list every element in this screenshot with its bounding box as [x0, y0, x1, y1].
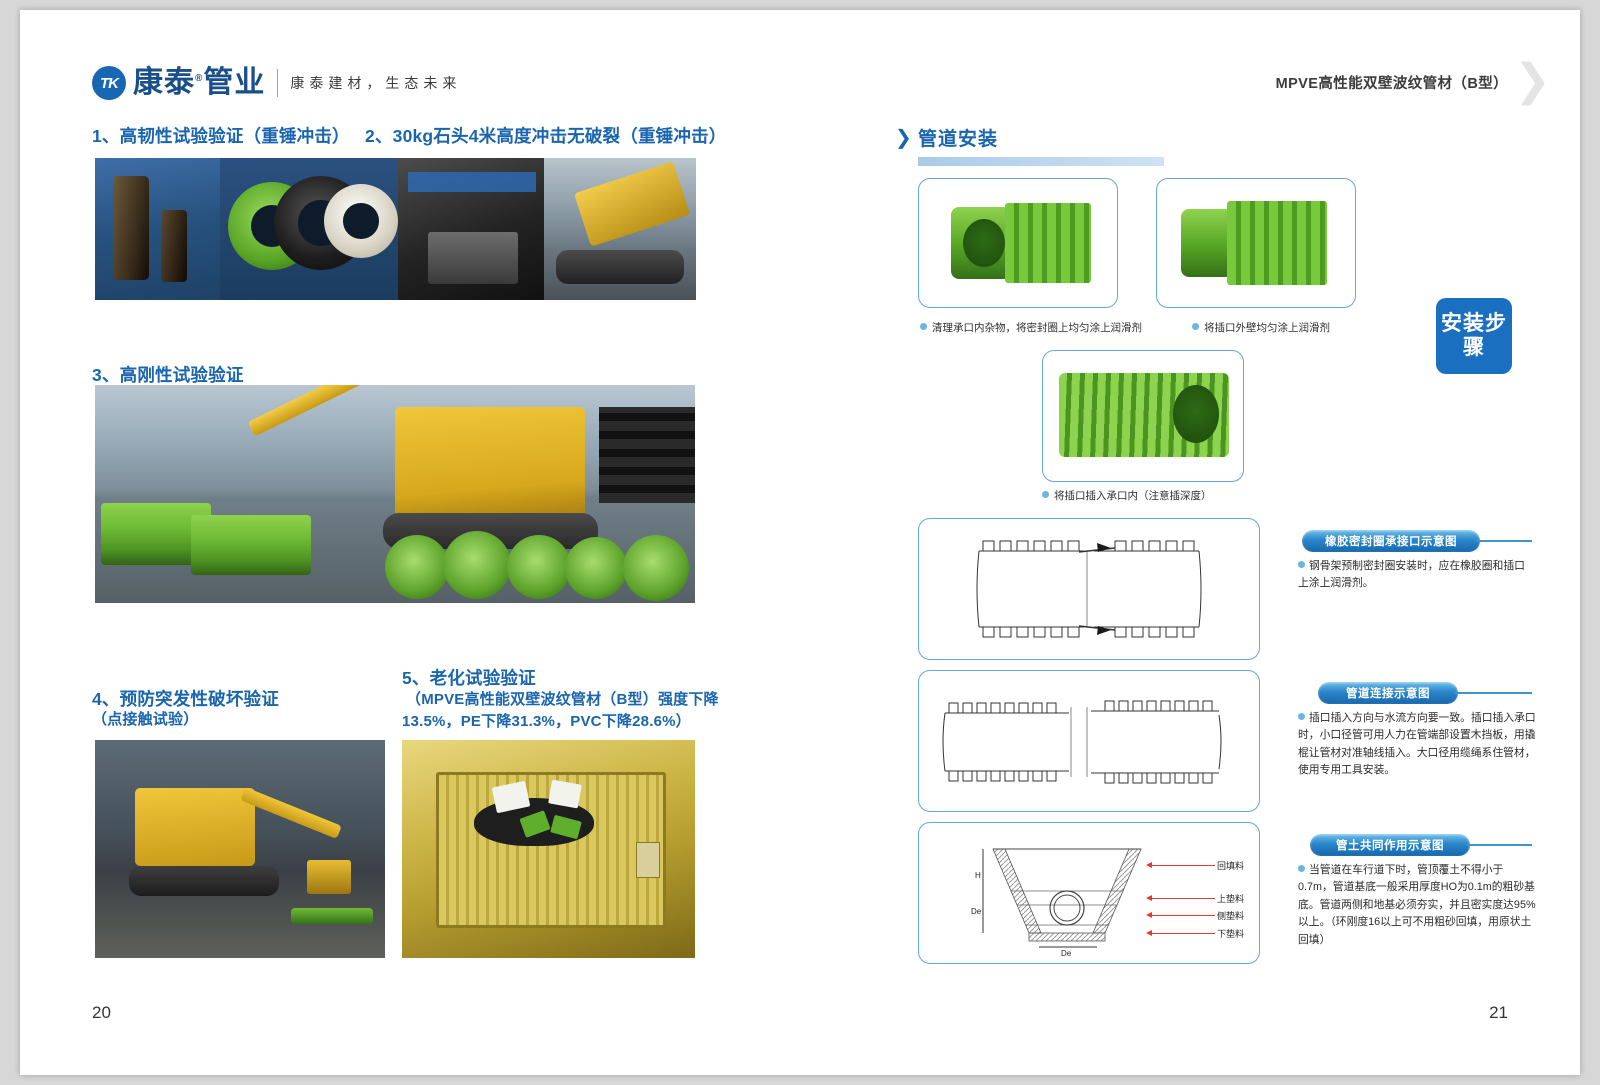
trench-arrow-lower: [1151, 933, 1215, 934]
black-pipe-stack: [599, 407, 695, 503]
step-caption-2-text: 将插口外壁均匀涂上润滑剂: [1204, 322, 1330, 334]
installation-steps-badge: 安装步骤: [1436, 298, 1512, 374]
right-page: MPVE高性能双壁波纹管材（B型） ❯ ❯ 管道安装 清理承口内杂物，将密封圈上…: [820, 10, 1580, 1075]
green-pipe-specimen: [291, 908, 373, 924]
section-title-installation: 管道安装: [918, 124, 998, 151]
bullet-dot-icon: [1298, 561, 1305, 568]
pill-connection-diagram: 管道连接示意图: [1318, 682, 1458, 704]
logo-divider: [277, 69, 278, 97]
step-caption-2: 将插口外壁均匀涂上润滑剂: [1192, 320, 1330, 335]
logo-mark-icon: TK: [92, 66, 126, 100]
pipe-bore-1: [963, 219, 1005, 267]
bullet-dot-icon: [1298, 865, 1305, 872]
diagram-text-connection-body: 插口插入方向与水流方向要一致。插口插入承口时，小口径管可用人力在管端部设置木挡板…: [1298, 712, 1536, 776]
diagram-text-connection: 插口插入方向与水流方向要一致。插口插入承口时，小口径管可用人力在管端部设置木挡板…: [1298, 710, 1536, 780]
specimen-white-2: [548, 780, 582, 809]
brand-logo: TK 康泰®管业 康泰建材，生态未来: [92, 66, 461, 100]
pill-seal-diagram: 橡胶密封圈承接口示意图: [1302, 530, 1480, 552]
photo-point-contact-test: [95, 740, 385, 958]
excavator-arm: [574, 161, 690, 246]
pipe-bore-3: [1173, 385, 1219, 443]
excavator-cab: [135, 788, 255, 866]
logo-slogan: 康泰建材，生态未来: [290, 73, 461, 93]
catalog-spread: TK 康泰®管业 康泰建材，生态未来 1、高韧性试验验证（重锤冲击） 2、30k…: [20, 10, 1580, 1075]
pill-tail-1: [1476, 540, 1532, 542]
bullet-dot-icon: [1042, 491, 1049, 498]
header-chevron-icon: ❯: [1514, 58, 1548, 104]
green-pipe-end-1: [385, 535, 449, 599]
seal-socket-drawing: [919, 519, 1259, 659]
pipe-corrugation-2: [1227, 201, 1327, 285]
diagram-text-trench-body: 当管道在车行道下时，管顶覆土不得小于0.7m，管道基底一般采用厚度HO为0.1m…: [1298, 864, 1536, 946]
diagram-text-trench: 当管道在车行道下时，管顶覆土不得小于0.7m，管道基底一般采用厚度HO为0.1m…: [1298, 862, 1538, 949]
product-title: MPVE高性能双壁波纹管材（B型）: [1276, 72, 1508, 93]
diagram-card-seal: [918, 518, 1260, 660]
photo-stiffness-test: [95, 385, 695, 603]
heading-test-5-line2: 13.5%，PE下降31.3%，PVC下降28.6%）: [402, 711, 691, 733]
excavator-boom: [240, 787, 342, 839]
page-number-left: 20: [92, 1003, 111, 1023]
step-card-3: [1042, 350, 1244, 482]
bullet-dot-icon: [1298, 713, 1305, 720]
trench-label-upper: 上垫料: [1217, 892, 1244, 905]
photo-excavator-site: [544, 158, 696, 300]
trench-section-drawing: [919, 823, 1259, 963]
bullet-dot-icon: [1192, 323, 1199, 330]
cat-excavator-arm: [248, 385, 363, 436]
pipe-socket-2: [1181, 209, 1233, 277]
step-caption-3: 将插口插入承口内（注意插深度）: [1042, 488, 1212, 503]
trench-label-backfill: 回填料: [1217, 859, 1244, 872]
trench-arrow-side: [1151, 915, 1215, 916]
excavator-crawler: [129, 866, 279, 896]
heading-test-2: 2、30kg石头4米高度冲击无破裂（重锤冲击）: [365, 123, 726, 148]
green-pipe-end-5: [623, 535, 689, 601]
lab-banner: [408, 172, 536, 192]
trench-arrow-upper: [1151, 898, 1215, 899]
green-pipe-b: [191, 515, 311, 575]
bullet-dot-icon: [920, 323, 927, 330]
heading-test-3: 3、高刚性试验验证: [92, 362, 244, 387]
oven-panel: [636, 842, 660, 878]
trench-label-lower: 下垫料: [1217, 927, 1244, 940]
heading-test-4-sub: （点接触试验）: [92, 709, 198, 731]
pipe-corrugation-1: [1005, 203, 1091, 283]
heading-test-5-line1: （MPVE高性能双壁波纹管材（B型）强度下降: [406, 689, 719, 711]
photo-aging-oven-test: [402, 740, 695, 958]
pill-trench-diagram: 管土共同作用示意图: [1310, 834, 1470, 856]
photo-lab-test-machine: [398, 158, 546, 300]
trench-arrow-backfill: [1151, 865, 1215, 866]
green-pipe-end-3: [507, 535, 571, 599]
cat-excavator-body: [395, 407, 585, 517]
lab-machine-body: [428, 232, 518, 284]
green-pipe-end-4: [565, 537, 627, 599]
logo-wordmark: 康泰®管业: [133, 68, 265, 98]
diagram-card-trench: H De De 回填料 上垫料 侧垫料 下垫料: [918, 822, 1260, 964]
trench-dim-de-left: De: [971, 907, 981, 916]
left-page: TK 康泰®管业 康泰建材，生态未来 1、高韧性试验验证（重锤冲击） 2、30k…: [20, 10, 820, 1075]
ring-white: [324, 184, 398, 258]
step-caption-3-text: 将插口插入承口内（注意插深度）: [1054, 490, 1212, 502]
section-chevron-icon: ❯: [895, 125, 912, 150]
page-number-right: 21: [1489, 1003, 1508, 1023]
pill-tail-3: [1466, 844, 1532, 846]
excavator-track: [556, 250, 684, 284]
step-caption-1: 清理承口内杂物，将密封圈上均匀涂上润滑剂: [920, 320, 1142, 335]
pill-tail-2: [1454, 692, 1532, 694]
diagram-text-seal: 钢骨架预制密封圈安装时，应在橡胶圈和插口上涂上润滑剂。: [1298, 558, 1530, 593]
excavator-bucket: [307, 860, 351, 894]
diagram-card-connection: [918, 670, 1260, 812]
pipe-connection-drawing: [919, 671, 1259, 811]
section-rule: [918, 157, 1164, 166]
trench-label-side: 侧垫料: [1217, 909, 1244, 922]
step-card-1: [918, 178, 1118, 308]
heading-test-1: 1、高韧性试验验证（重锤冲击）: [92, 123, 350, 148]
diagram-text-seal-body: 钢骨架预制密封圈安装时，应在橡胶圈和插口上涂上润滑剂。: [1298, 560, 1525, 589]
heading-test-5: 5、老化试验验证: [402, 665, 536, 690]
green-pipe-end-2: [443, 531, 511, 599]
heading-test-4: 4、预防突发性破坏验证: [92, 686, 279, 711]
logo-wordmark-text: 康泰®管业: [133, 66, 265, 99]
step-caption-1-text: 清理承口内杂物，将密封圈上均匀涂上润滑剂: [932, 322, 1142, 334]
trench-dim-h: H: [975, 871, 981, 880]
photo-pipe-rings: [220, 158, 400, 300]
trench-dim-de-bottom: De: [1061, 949, 1071, 958]
step-card-2: [1156, 178, 1356, 308]
